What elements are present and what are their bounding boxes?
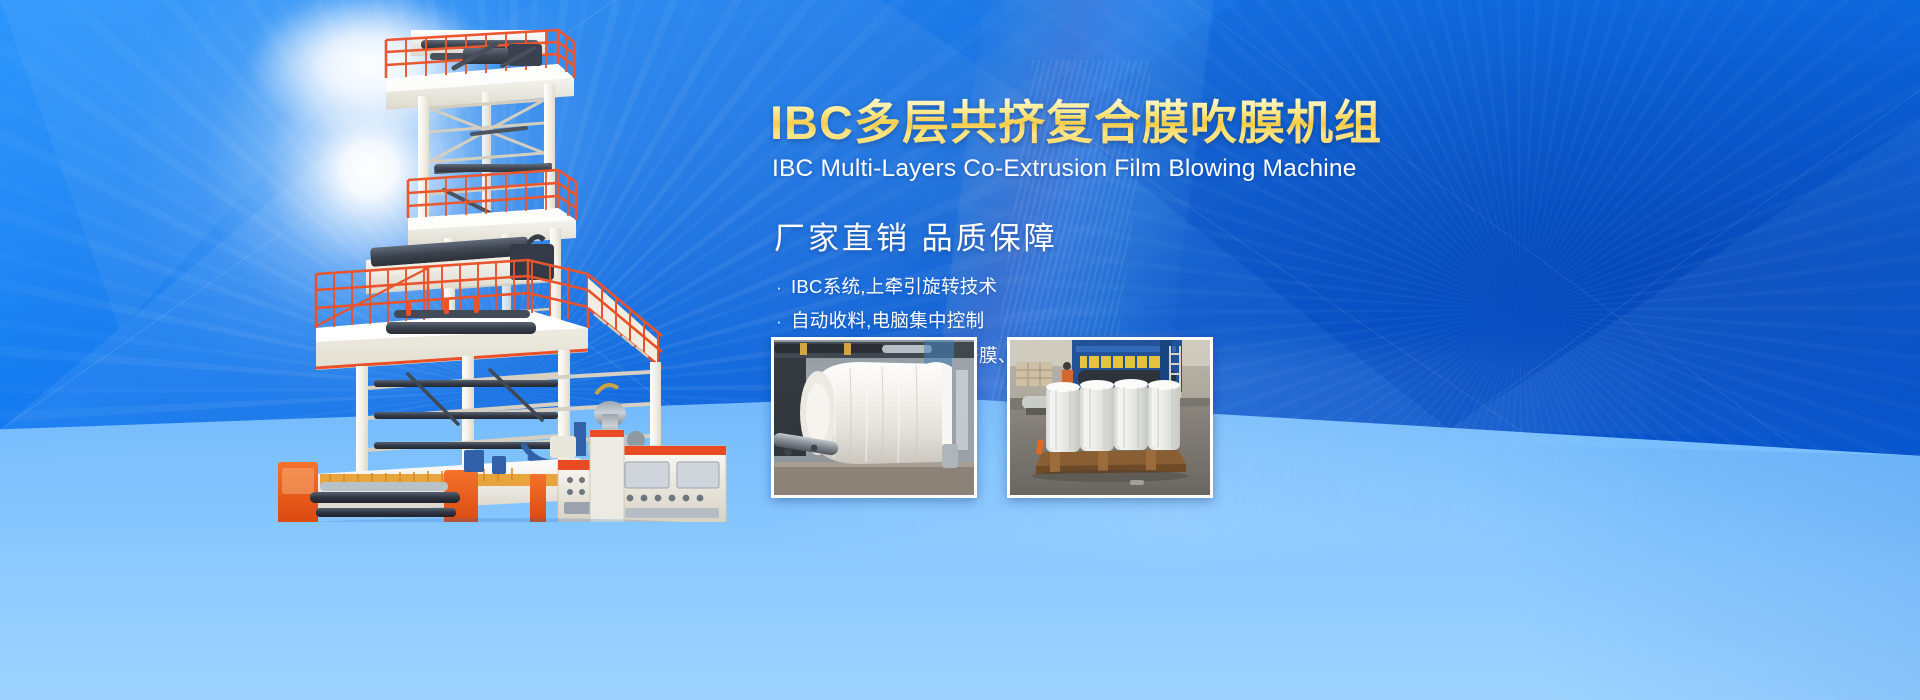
product-photo-strip [771,337,1213,498]
banner-title-chinese: IBC多层共挤复合膜吹膜机组 [770,98,1670,148]
bullet-dot-icon: · [776,313,782,330]
promo-banner: IBC多层共挤复合膜吹膜机组 IBC Multi-Layers Co-Extru… [0,0,1920,700]
film-blowing-machine-image [258,22,758,522]
product-photo-film-roll [771,337,977,498]
feature-item: · IBC系统,上牵引旋转技术 [776,278,1670,297]
banner-title-english: IBC Multi-Layers Co-Extrusion Film Blowi… [772,155,1670,183]
feature-item-label: IBC系统,上牵引旋转技术 [791,278,997,297]
feature-item-label: 自动收料,电脑集中控制 [791,312,984,331]
bullet-dot-icon: · [776,279,782,296]
banner-tagline: 厂家直销 品质保障 [774,213,1670,258]
product-photo-pallet-rolls [1007,337,1213,498]
feature-item: · 自动收料,电脑集中控制 [776,312,1670,331]
